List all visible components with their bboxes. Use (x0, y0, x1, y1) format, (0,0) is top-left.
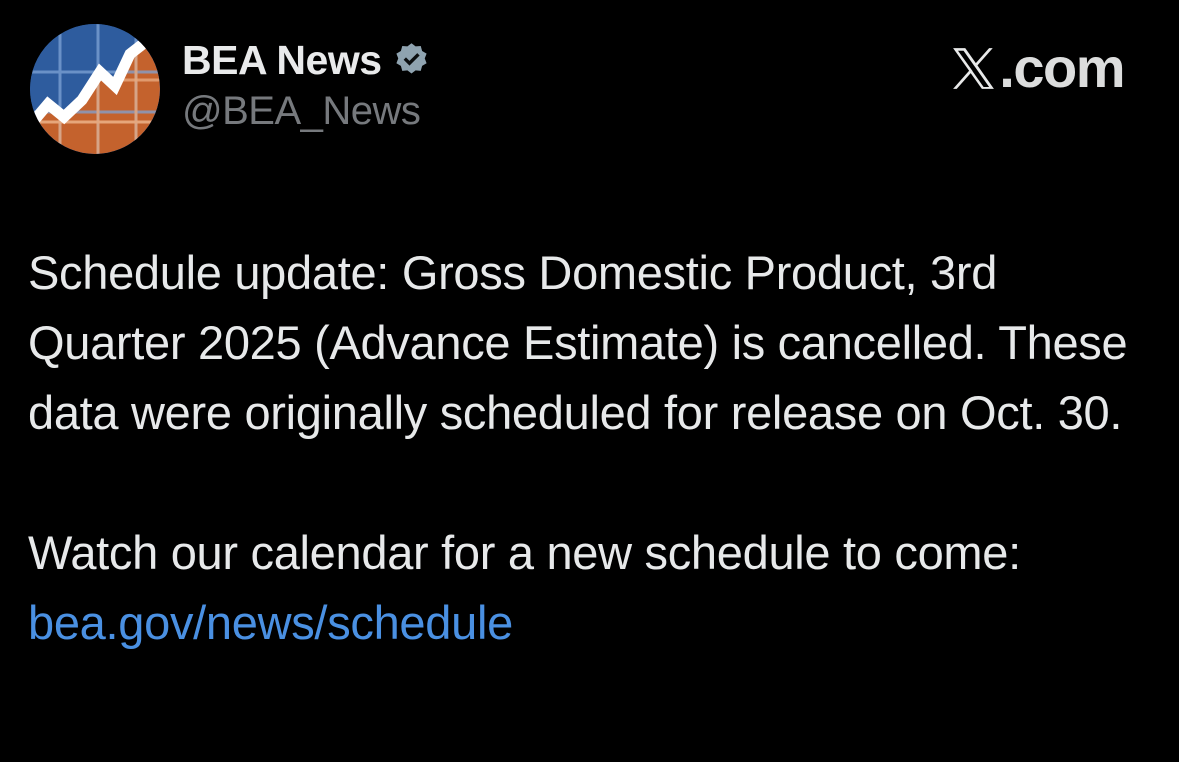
post-body: Schedule update: Gross Domestic Product,… (28, 238, 1148, 658)
xcom-domain-text: .com (999, 40, 1124, 96)
display-name-row: BEA News (182, 40, 430, 81)
post-paragraph-2-text: Watch our calendar for a new schedule to… (28, 526, 1021, 579)
xcom-watermark: .com (949, 38, 1124, 98)
post-screenshot: BEA News @BEA_News .com Schedule update:… (0, 0, 1179, 762)
paragraph-spacer (28, 448, 1148, 518)
avatar[interactable] (30, 24, 160, 154)
post-paragraph-2: Watch our calendar for a new schedule to… (28, 518, 1148, 658)
author-identity: BEA News @BEA_News (182, 24, 430, 133)
x-logo-icon (949, 44, 998, 93)
display-name[interactable]: BEA News (182, 40, 382, 81)
post-link[interactable]: bea.gov/news/schedule (28, 596, 513, 649)
author-handle[interactable]: @BEA_News (182, 89, 430, 133)
post-paragraph-1: Schedule update: Gross Domestic Product,… (28, 238, 1148, 448)
grey-verified-badge-icon[interactable] (393, 42, 430, 79)
line-chart-icon (30, 24, 160, 154)
